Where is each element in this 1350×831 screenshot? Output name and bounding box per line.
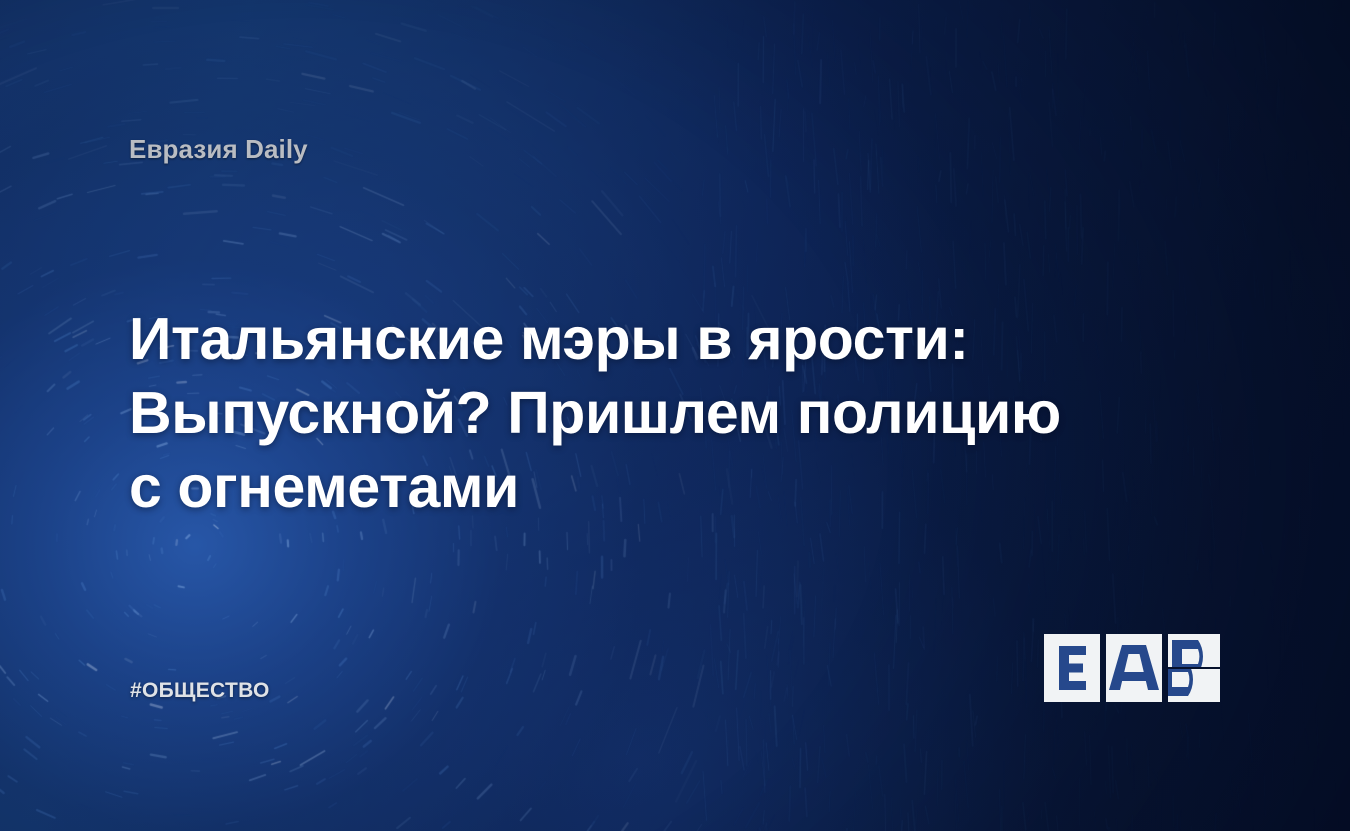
logo-letter-e: [1044, 634, 1100, 702]
logo-letter-d-top-half: [1168, 634, 1220, 667]
eadaily-logo[interactable]: [1044, 634, 1222, 702]
site-name: Евразия Daily: [129, 134, 308, 165]
category-tag[interactable]: #ОБЩЕСТВО: [130, 679, 270, 703]
card-content: Евразия Daily Итальянские мэры в ярости:…: [0, 0, 1350, 831]
headline: Итальянские мэры в ярости: Выпускной? Пр…: [129, 302, 1069, 524]
headline-line-1: Итальянские мэры в ярости:: [129, 302, 1069, 376]
news-card: Евразия Daily Итальянские мэры в ярости:…: [0, 0, 1350, 831]
headline-line-2: Выпускной? Пришлем полицию: [129, 376, 1069, 450]
headline-line-3: с огнеметами: [129, 450, 1069, 524]
logo-letter-d-bottom-half: [1168, 669, 1220, 702]
logo-letter-a: [1106, 634, 1162, 702]
logo-letter-d-split: [1168, 634, 1220, 702]
